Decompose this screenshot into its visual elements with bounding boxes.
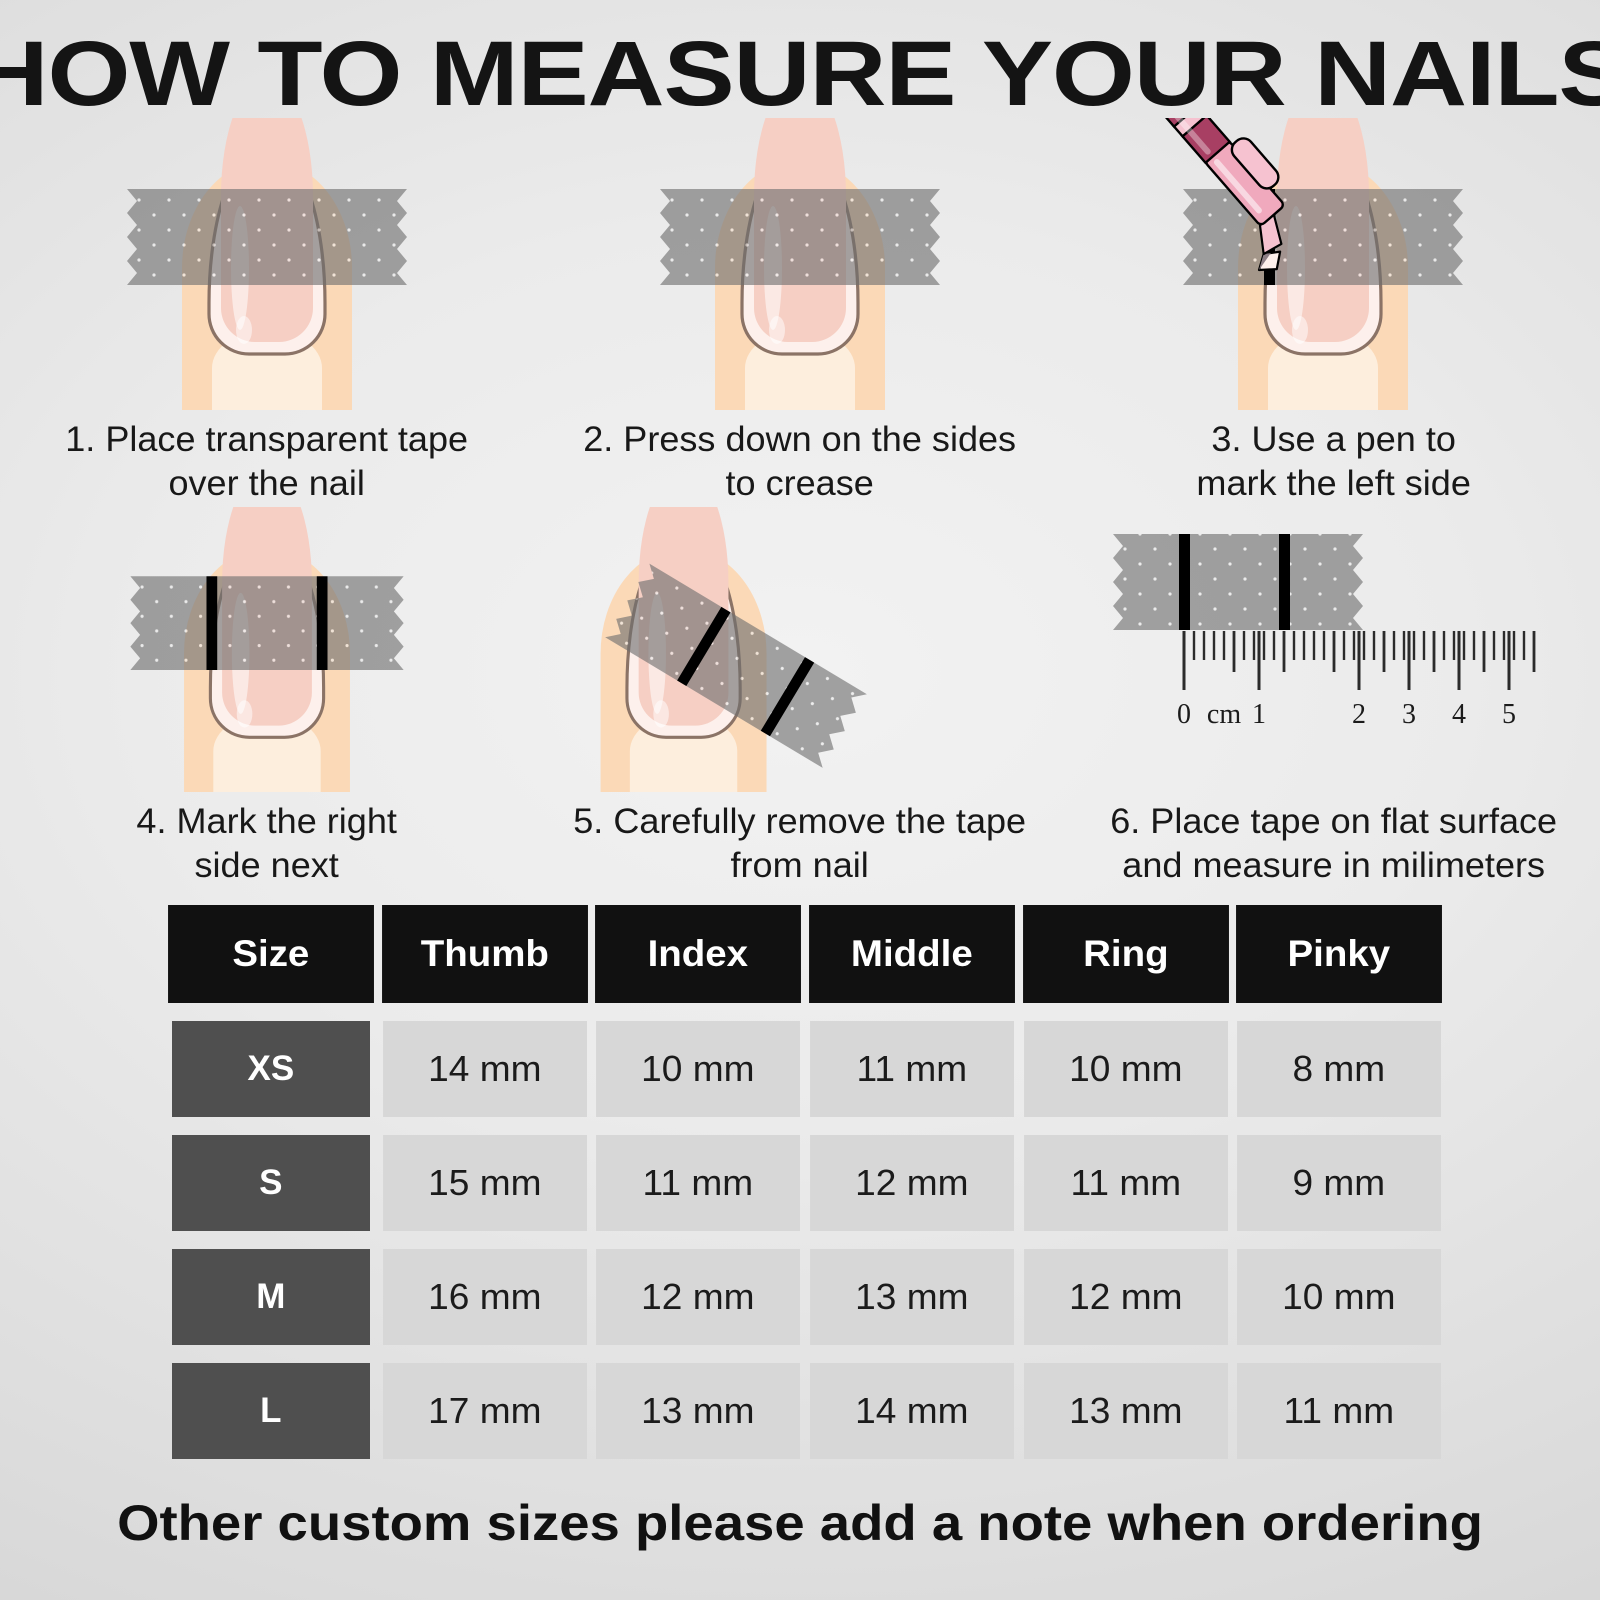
tape-on-ruler-icon: 0 cm 1 2 3 4 5 bbox=[1103, 527, 1563, 812]
step-3-caption-line2: mark the left side bbox=[1059, 462, 1600, 506]
ruler-tick-0: 0 bbox=[1177, 699, 1191, 730]
step-3-caption: 3. Use a pen to mark the left side bbox=[1059, 418, 1600, 507]
finger-tape-pen-icon bbox=[1163, 118, 1503, 410]
ruler-labels: 0 cm 1 2 3 4 5 bbox=[1177, 699, 1516, 730]
step-4-illustration bbox=[0, 507, 533, 792]
cell-l-index: 13 mm bbox=[596, 1363, 800, 1459]
finger-tape-two-marks-icon bbox=[117, 507, 417, 792]
table-header-thumb: Thumb bbox=[382, 905, 588, 1003]
size-label-m: M bbox=[172, 1249, 370, 1345]
step-5-illustration bbox=[533, 507, 1066, 792]
cell-m-ring: 12 mm bbox=[1024, 1249, 1228, 1345]
step-2-caption-line2: to crease bbox=[525, 462, 1074, 506]
ruler bbox=[1184, 631, 1534, 690]
tape-strip bbox=[1183, 189, 1463, 285]
cell-m-thumb: 16 mm bbox=[383, 1249, 587, 1345]
step-2-caption-line1: 2. Press down on the sides bbox=[525, 418, 1074, 462]
cell-s-ring: 11 mm bbox=[1024, 1135, 1228, 1231]
steps-row-1: 1. Place transparent tape over the nail bbox=[0, 118, 1600, 507]
cell-xs-middle: 11 mm bbox=[810, 1021, 1014, 1117]
infographic-page: HOW TO MEASURE YOUR NAILS bbox=[0, 0, 1600, 1600]
table-header-index: Index bbox=[595, 905, 801, 1003]
step-6-caption: 6. Place tape on flat surface and measur… bbox=[1059, 800, 1600, 889]
ruler-tick-3: 3 bbox=[1402, 699, 1416, 730]
step-6-caption-line1: 6. Place tape on flat surface bbox=[1059, 800, 1600, 844]
cell-xs-pinky: 8 mm bbox=[1237, 1021, 1441, 1117]
cell-m-index: 12 mm bbox=[596, 1249, 800, 1345]
tape-strip bbox=[127, 189, 407, 285]
cell-xs-ring: 10 mm bbox=[1024, 1021, 1228, 1117]
table-header-row: Size Thumb Index Middle Ring Pinky bbox=[172, 905, 1438, 1003]
ruler-tick-4: 4 bbox=[1452, 699, 1466, 730]
left-mark bbox=[1179, 534, 1190, 630]
cell-l-ring: 13 mm bbox=[1024, 1363, 1228, 1459]
steps-grid: 1. Place transparent tape over the nail bbox=[0, 118, 1600, 889]
step-1-caption: 1. Place transparent tape over the nail bbox=[0, 418, 541, 507]
right-mark bbox=[316, 576, 327, 670]
step-6-illustration: 0 cm 1 2 3 4 5 bbox=[1067, 507, 1600, 792]
cell-l-thumb: 17 mm bbox=[383, 1363, 587, 1459]
footer-note: Other custom sizes please add a note whe… bbox=[0, 1494, 1600, 1552]
cell-l-middle: 14 mm bbox=[810, 1363, 1014, 1459]
step-6: 0 cm 1 2 3 4 5 6. Place tape on flat sur… bbox=[1067, 507, 1600, 889]
table-row: S 15 mm 11 mm 12 mm 11 mm 9 mm bbox=[172, 1135, 1438, 1231]
step-1: 1. Place transparent tape over the nail bbox=[0, 118, 533, 507]
step-3: 3. Use a pen to mark the left side bbox=[1067, 118, 1600, 507]
table-header-middle: Middle bbox=[809, 905, 1015, 1003]
step-5: 5. Carefully remove the tape from nail bbox=[533, 507, 1066, 889]
page-title: HOW TO MEASURE YOUR NAILS bbox=[0, 22, 1600, 127]
table-row: L 17 mm 13 mm 14 mm 13 mm 11 mm bbox=[172, 1363, 1438, 1459]
tape-strip bbox=[130, 576, 403, 670]
step-3-illustration bbox=[1067, 118, 1600, 410]
steps-row-2: 4. Mark the right side next bbox=[0, 507, 1600, 889]
cell-s-index: 11 mm bbox=[596, 1135, 800, 1231]
size-label-xs: XS bbox=[172, 1021, 370, 1117]
ruler-tick-5: 5 bbox=[1502, 699, 1516, 730]
step-4: 4. Mark the right side next bbox=[0, 507, 533, 889]
step-5-caption-line2: from nail bbox=[525, 844, 1074, 888]
size-chart-table: Size Thumb Index Middle Ring Pinky XS 14… bbox=[172, 905, 1438, 1459]
table-header-ring: Ring bbox=[1023, 905, 1229, 1003]
cell-s-pinky: 9 mm bbox=[1237, 1135, 1441, 1231]
step-6-caption-line2: and measure in milimeters bbox=[1059, 844, 1600, 888]
tape-strip bbox=[660, 189, 940, 285]
cell-l-pinky: 11 mm bbox=[1237, 1363, 1441, 1459]
step-2: 2. Press down on the sides to crease bbox=[533, 118, 1066, 507]
cell-m-pinky: 10 mm bbox=[1237, 1249, 1441, 1345]
step-5-caption-line1: 5. Carefully remove the tape bbox=[525, 800, 1074, 844]
cell-xs-index: 10 mm bbox=[596, 1021, 800, 1117]
cell-s-middle: 12 mm bbox=[810, 1135, 1014, 1231]
step-2-caption: 2. Press down on the sides to crease bbox=[525, 418, 1074, 507]
step-4-caption-line2: side next bbox=[0, 844, 541, 888]
step-1-caption-line1: 1. Place transparent tape bbox=[0, 418, 541, 462]
step-4-caption-line1: 4. Mark the right bbox=[0, 800, 541, 844]
step-3-caption-line1: 3. Use a pen to bbox=[1059, 418, 1600, 462]
size-label-s: S bbox=[172, 1135, 370, 1231]
finger-with-creased-tape-icon bbox=[650, 118, 950, 410]
table-header-size: Size bbox=[168, 905, 374, 1003]
tape-peeling-off-icon bbox=[547, 507, 947, 792]
finger-with-tape-icon bbox=[117, 118, 417, 410]
ruler-tick-2: 2 bbox=[1352, 699, 1366, 730]
left-mark bbox=[206, 576, 217, 670]
table-row: XS 14 mm 10 mm 11 mm 10 mm 8 mm bbox=[172, 1021, 1438, 1117]
size-label-l: L bbox=[172, 1363, 370, 1459]
cell-s-thumb: 15 mm bbox=[383, 1135, 587, 1231]
table-header-pinky: Pinky bbox=[1236, 905, 1442, 1003]
step-4-caption: 4. Mark the right side next bbox=[0, 800, 541, 889]
tape-strip bbox=[1113, 534, 1363, 630]
ruler-tick-1: 1 bbox=[1252, 699, 1266, 730]
table-row: M 16 mm 12 mm 13 mm 12 mm 10 mm bbox=[172, 1249, 1438, 1345]
step-2-illustration bbox=[533, 118, 1066, 410]
ruler-unit-label: cm bbox=[1207, 699, 1241, 730]
cell-xs-thumb: 14 mm bbox=[383, 1021, 587, 1117]
step-1-illustration bbox=[0, 118, 533, 410]
step-1-caption-line2: over the nail bbox=[0, 462, 541, 506]
cell-m-middle: 13 mm bbox=[810, 1249, 1014, 1345]
step-5-caption: 5. Carefully remove the tape from nail bbox=[525, 800, 1074, 889]
right-mark bbox=[1279, 534, 1290, 630]
